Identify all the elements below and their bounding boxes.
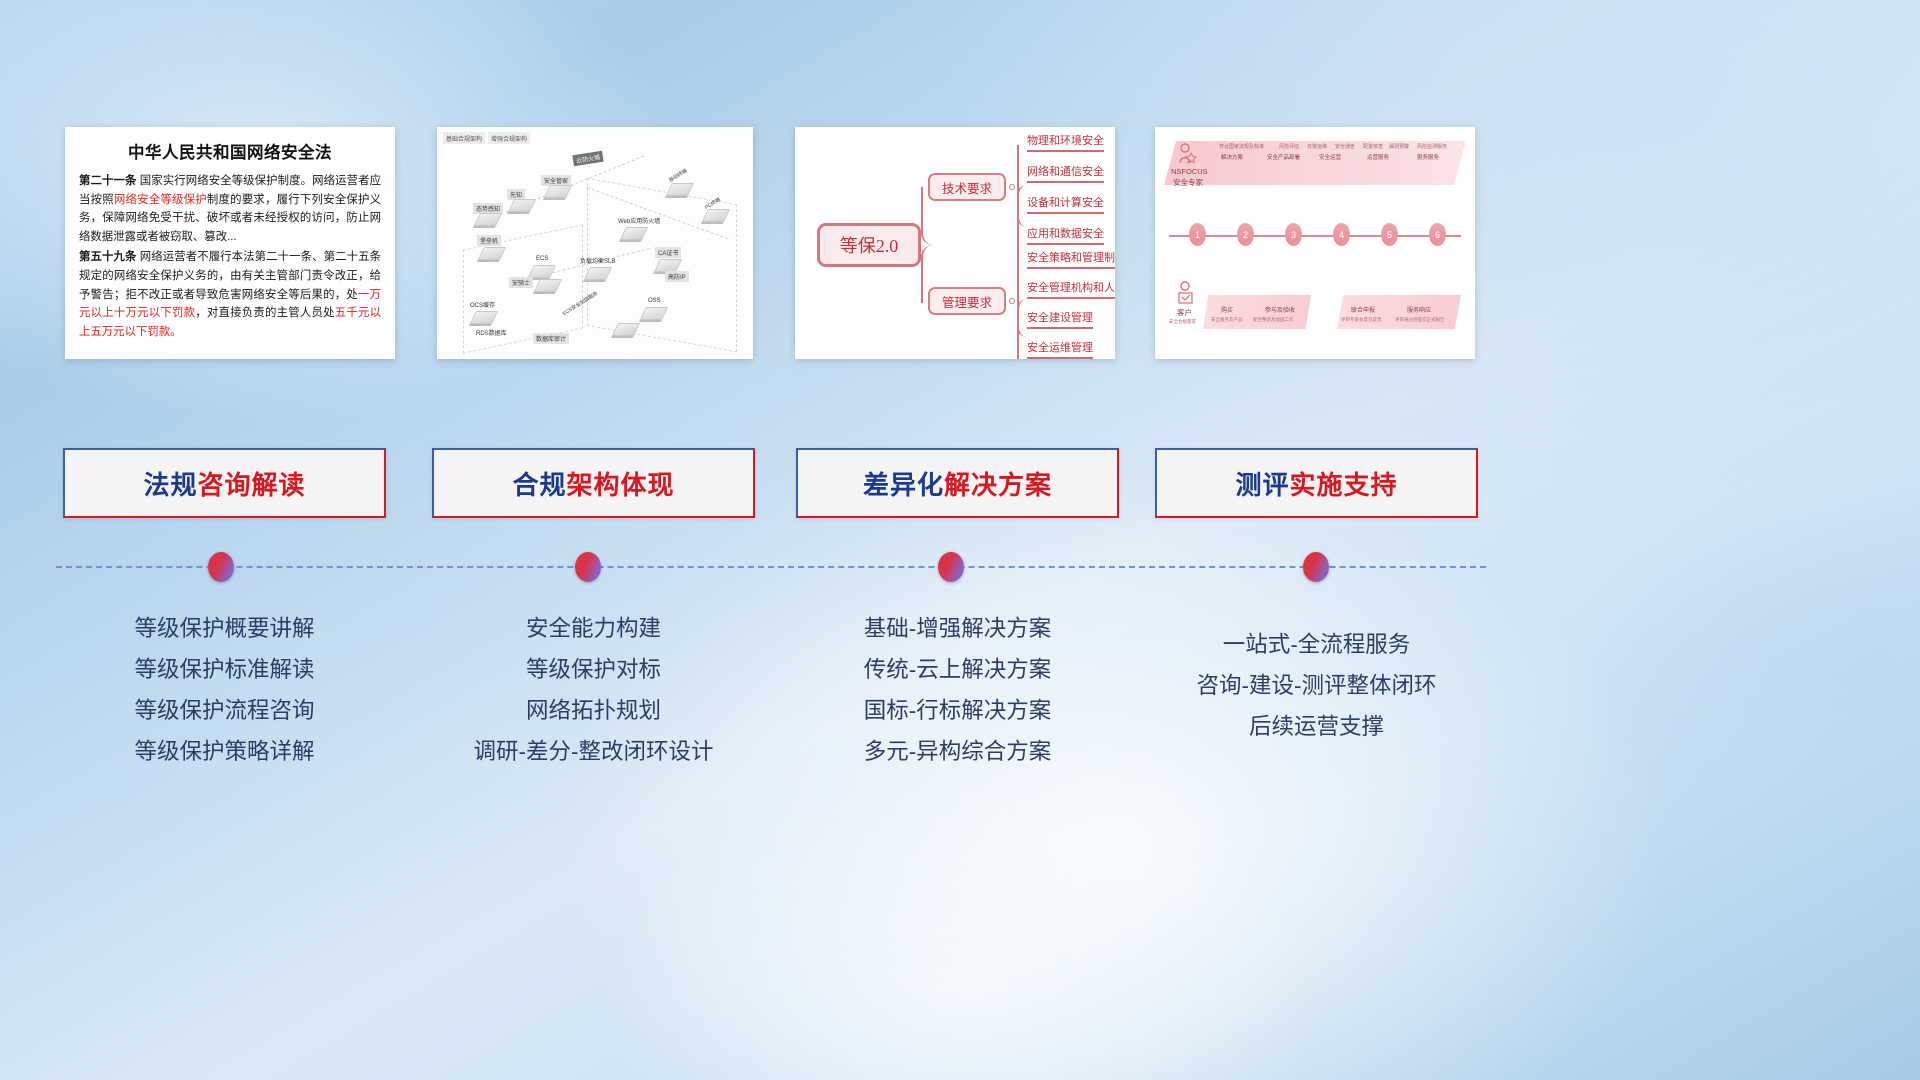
node-anti-ddos-ip: 高防IP <box>665 271 689 282</box>
banner-item-3: 运营服务 <box>1367 153 1389 161</box>
list-column-architecture: 安全能力构建 等级保护对标 网络拓扑规划 调研-差分-整改闭环设计 <box>432 608 755 772</box>
list-item: 多元-异构综合方案 <box>796 731 1119 772</box>
timeline-marker-1[interactable] <box>208 552 234 582</box>
list-column-assessment: 一站式-全流程服务 咨询-建设-测评整体闭环 后续运营支撑 <box>1155 624 1478 747</box>
list-item: 咨询-建设-测评整体闭环 <box>1155 665 1478 706</box>
node-waf: Web应用防火墙 <box>615 215 663 226</box>
banner-sub-5: 漏洞预警 <box>1389 143 1409 150</box>
mindmap-branch-technical: 技术要求 <box>928 173 1006 201</box>
header-box-regulation-consulting[interactable]: 法规咨询解读 <box>63 448 386 518</box>
list-column-solution: 基础-增强解决方案 传统-云上解决方案 国标-行标解决方案 多元-异构综合方案 <box>796 608 1119 772</box>
mindmap-leaf-device-compute: 设备和计算安全 <box>1027 194 1104 214</box>
law-title: 中华人民共和国网络安全法 <box>79 139 381 163</box>
header-2-red-text: 架构体现 <box>567 465 675 502</box>
roadmap-step-4: 4 <box>1333 223 1350 246</box>
list-column-regulation: 等级保护概要讲解 等级保护标准解读 等级保护流程咨询 等级保护策略详解 <box>63 608 386 772</box>
banner-item-1: 安全产品部署 <box>1267 153 1300 161</box>
roadmap-timeline-line <box>1169 235 1461 237</box>
mindmap-leaf-org-personnel: 安全管理机构和人员 <box>1027 279 1115 299</box>
mindmap-leaf-policy-system: 安全策略和管理制度 <box>1027 249 1115 269</box>
timeline-marker-2[interactable] <box>575 552 601 582</box>
banner-sub-6: 风险监测服务 <box>1417 143 1447 150</box>
list-item: 等级保护概要讲解 <box>63 608 386 649</box>
node-ecs: ECS <box>533 255 551 263</box>
mindmap-core-node: 等保2.0 <box>817 223 921 267</box>
header-box-differentiated-solution[interactable]: 差异化解决方案 <box>796 448 1119 518</box>
roadmap-step-6: 6 <box>1429 223 1446 246</box>
foot-item-1: 参与及验收 <box>1265 305 1295 314</box>
mindmap-leaf-ops-mgmt: 安全运维管理 <box>1027 339 1093 359</box>
node-anqishi: 安骑士 <box>509 277 533 288</box>
customer-icon <box>1177 281 1195 305</box>
article-21-label: 第二十一条 <box>79 175 136 187</box>
roadmap-step-2: 2 <box>1237 223 1254 246</box>
list-item: 安全能力构建 <box>432 608 755 649</box>
card-cybersecurity-law[interactable]: 中华人民共和国网络安全法 第二十一条 国家实行网络安全等级保护制度。网络运营者应… <box>65 127 395 359</box>
list-item: 等级保护策略详解 <box>63 731 386 772</box>
section-headers: 法规咨询解读 合规架构体现 差异化解决方案 测评实施支持 <box>0 448 1920 518</box>
header-4-blue-text: 测评 <box>1235 465 1289 502</box>
banner-sub-1: 风险评估 <box>1279 143 1299 150</box>
mindmap-diagram: 等保2.0 技术要求 物理和环境安全 网络和通信安全 设备和计算安全 应用和数据… <box>795 127 1115 359</box>
list-item: 等级保护流程咨询 <box>63 690 386 731</box>
architecture-diagram: 基础合规架构 增强合规架构 云防火墙 安全管家 先知 态势感知 堡垒机 ECS … <box>437 127 753 359</box>
roadmap-diagram: NSFOCUS 安全专家 符合国家法规及标准 风险评估 日常运维 安全通告 配置… <box>1155 127 1475 359</box>
banner-item-0: 解决方案 <box>1221 153 1243 161</box>
card-assessment-roadmap[interactable]: NSFOCUS 安全专家 符合国家法规及标准 风险评估 日常运维 安全通告 配置… <box>1155 127 1475 359</box>
list-item: 传统-云上解决方案 <box>796 649 1119 690</box>
node-database-audit: 数据库审计 <box>533 333 569 344</box>
mindmap-leaf-network-comm: 网络和通信安全 <box>1027 163 1104 183</box>
header-1-red-text: 咨询解读 <box>198 465 306 502</box>
header-box-compliance-architecture[interactable]: 合规架构体现 <box>432 448 755 518</box>
tab-basic-architecture[interactable]: 基础合规架构 <box>443 132 485 144</box>
timeline-dashed-line <box>56 566 1486 568</box>
timeline-marker-3[interactable] <box>938 552 964 582</box>
mindmap-leaf-app-data: 应用和数据安全 <box>1027 225 1104 245</box>
law-document: 中华人民共和国网络安全法 第二十一条 国家实行网络安全等级保护制度。网络运营者应… <box>65 127 395 351</box>
list-item: 基础-增强解决方案 <box>796 608 1119 649</box>
expert-role-label: 安全专家 <box>1173 177 1203 188</box>
node-bastion-host: 堡垒机 <box>477 235 501 246</box>
roadmap-step-1: 1 <box>1189 223 1206 246</box>
roadmap-step-3: 3 <box>1285 223 1302 246</box>
roadmap-step-5: 5 <box>1381 223 1398 246</box>
foot-sub-3: 评审通过后提交正式报告 <box>1395 317 1445 323</box>
header-box-assessment-support[interactable]: 测评实施支持 <box>1155 448 1478 518</box>
law-article-59: 第五十九条 网络运营者不履行本法第二十一条、第二十五条规定的网络安全保护义务的，… <box>79 248 381 341</box>
customer-label: 客户 <box>1177 307 1192 318</box>
mindmap-connector-dot-technical <box>1009 184 1015 190</box>
mindmap-leaf-construction-mgmt: 安全建设管理 <box>1027 309 1093 329</box>
tab-enhanced-architecture[interactable]: 增强合规架构 <box>488 132 530 144</box>
list-item: 后续运营支撑 <box>1155 706 1478 747</box>
list-item: 网络拓扑规划 <box>432 690 755 731</box>
header-3-blue-text: 差异化 <box>863 465 944 502</box>
mindmap-branch-management: 管理要求 <box>928 287 1006 315</box>
foot-sub-2: 评审专家会意见反馈 <box>1341 317 1382 323</box>
banner-sub-4: 配置核查 <box>1363 143 1383 150</box>
article-59-text-2: ，对直接负责的主管人员处 <box>195 307 334 319</box>
header-2-blue-text: 合规 <box>512 465 566 502</box>
node-ca-certificate: CA证书 <box>655 247 681 258</box>
mindmap-connector-dot-management <box>1009 298 1015 304</box>
header-1-blue-text: 法规 <box>143 465 197 502</box>
expert-brand-label: NSFOCUS <box>1171 167 1208 176</box>
banner-item-4: 服务服务 <box>1417 153 1439 161</box>
banner-sub-0: 符合国家法规及标准 <box>1219 143 1264 150</box>
banner-item-2: 安全运营 <box>1319 153 1341 161</box>
node-cloud-firewall: 云防火墙 <box>572 151 603 167</box>
card-compliance-architecture[interactable]: 基础合规架构 增强合规架构 云防火墙 安全管家 先知 态势感知 堡垒机 ECS … <box>437 127 753 359</box>
node-rds-database: RDS数据库 <box>473 327 510 338</box>
list-item: 国标-行标解决方案 <box>796 690 1119 731</box>
law-article-21: 第二十一条 国家实行网络安全等级保护制度。网络运营者应当按照网络安全等级保护制度… <box>79 172 381 246</box>
header-3-red-text: 解决方案 <box>944 465 1052 502</box>
node-slb: 负载均衡SLB <box>577 255 618 266</box>
node-oss: OSS <box>645 297 664 305</box>
timeline-marker-4[interactable] <box>1303 552 1329 582</box>
list-item: 调研-差分-整改闭环设计 <box>432 731 755 772</box>
security-expert-icon <box>1177 143 1197 165</box>
list-item: 等级保护标准解读 <box>63 649 386 690</box>
customer-sub-label: 安全合规需求 <box>1169 319 1196 325</box>
foot-sub-1: 配合整改及加固工作 <box>1253 317 1294 323</box>
article-21-highlight: 网络安全等级保护 <box>114 194 207 206</box>
header-4-red-text: 实施支持 <box>1290 465 1398 502</box>
node-ocs-cache: OCS缓存 <box>467 299 498 310</box>
foot-item-3: 服务响应 <box>1407 305 1431 314</box>
foot-item-2: 联合申报 <box>1351 305 1375 314</box>
list-item: 等级保护对标 <box>432 649 755 690</box>
timeline <box>0 566 1920 606</box>
mindmap-leaf-physical-env: 物理和环境安全 <box>1027 132 1104 152</box>
foot-sub-0: 安全服务及产品 <box>1211 317 1243 323</box>
list-item: 一站式-全流程服务 <box>1155 624 1478 665</box>
cards-row: 中华人民共和国网络安全法 第二十一条 国家实行网络安全等级保护制度。网络运营者应… <box>0 127 1920 362</box>
card-mindmap-dengbao[interactable]: 等保2.0 技术要求 物理和环境安全 网络和通信安全 设备和计算安全 应用和数据… <box>795 127 1115 359</box>
architecture-tabs: 基础合规架构 增强合规架构 <box>443 132 530 144</box>
foot-item-0: 购买 <box>1221 305 1233 314</box>
banner-sub-2: 日常运维 <box>1307 143 1327 150</box>
article-59-label: 第五十九条 <box>79 251 136 263</box>
banner-sub-3: 安全通告 <box>1335 143 1355 150</box>
